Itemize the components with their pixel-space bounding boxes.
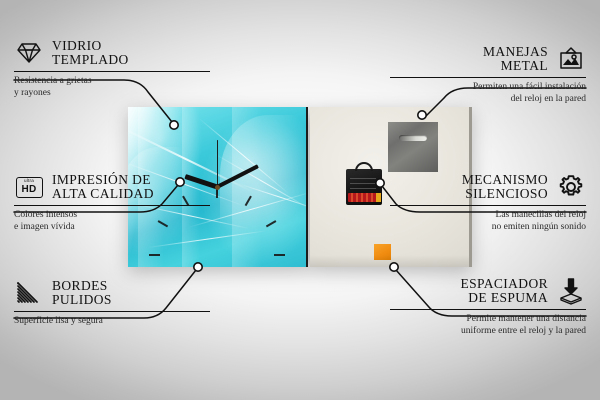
callout-title: MANEJAS METAL xyxy=(483,45,548,74)
callout-impresion-alta-calidad: ultra HD IMPRESIÓN DE ALTA CALIDAD Color… xyxy=(14,172,210,233)
callout-title: MECANISMO SILENCIOSO xyxy=(462,173,548,202)
callout-mecanismo-silencioso: MECANISMO SILENCIOSO Las manecillas del … xyxy=(390,172,586,233)
quartz-mechanism xyxy=(346,169,382,205)
callout-divider xyxy=(14,311,210,312)
picture-frame-icon xyxy=(556,44,586,74)
callout-bordes-pulidos: BORDES PULIDOS Superficie lisa y segura xyxy=(14,278,210,328)
gear-icon xyxy=(556,172,586,202)
callout-vidrio-templado: VIDRIO TEMPLADO Resistencia a grietas y … xyxy=(14,38,210,99)
callout-divider xyxy=(14,205,210,206)
clock-center-hub xyxy=(215,185,220,190)
metal-hanger-plate xyxy=(388,122,438,172)
callout-title: IMPRESIÓN DE ALTA CALIDAD xyxy=(52,173,154,202)
polished-edges-icon xyxy=(14,278,44,308)
callout-description: Colores intensos e imagen vívida xyxy=(14,210,210,233)
ultra-hd-icon-main-text: HD xyxy=(21,185,36,195)
mechanism-loop xyxy=(355,162,373,171)
callout-description: Permiten una fácil instalación del reloj… xyxy=(390,82,586,105)
clock-marker xyxy=(149,254,160,256)
callout-divider xyxy=(390,309,586,310)
callout-title: VIDRIO TEMPLADO xyxy=(52,39,129,68)
callout-espaciador-espuma: ESPACIADOR DE ESPUMA Permite mantener un… xyxy=(390,276,586,337)
callout-description: Las manecillas del reloj no emiten ningú… xyxy=(390,210,586,233)
callout-divider xyxy=(390,77,586,78)
infographic-canvas: VIDRIO TEMPLADO Resistencia a grietas y … xyxy=(0,0,600,400)
callout-title: ESPACIADOR DE ESPUMA xyxy=(460,277,548,306)
press-down-pad-icon xyxy=(556,276,586,306)
callout-description: Superficie lisa y segura xyxy=(14,316,210,328)
callout-divider xyxy=(390,205,586,206)
hanger-slot xyxy=(399,135,427,141)
diamond-icon xyxy=(14,38,44,68)
callout-manejas-metal: MANEJAS METAL Permiten una fácil instala… xyxy=(390,44,586,105)
callout-description: Permite mantener una distancia uniforme … xyxy=(390,314,586,337)
battery-terminal xyxy=(376,193,381,202)
clock-marker xyxy=(274,254,285,256)
callout-title: BORDES PULIDOS xyxy=(52,279,112,308)
ultra-hd-icon: ultra HD xyxy=(14,172,44,202)
callout-description: Resistencia a grietas y rayones xyxy=(14,76,210,99)
callout-divider xyxy=(14,71,210,72)
